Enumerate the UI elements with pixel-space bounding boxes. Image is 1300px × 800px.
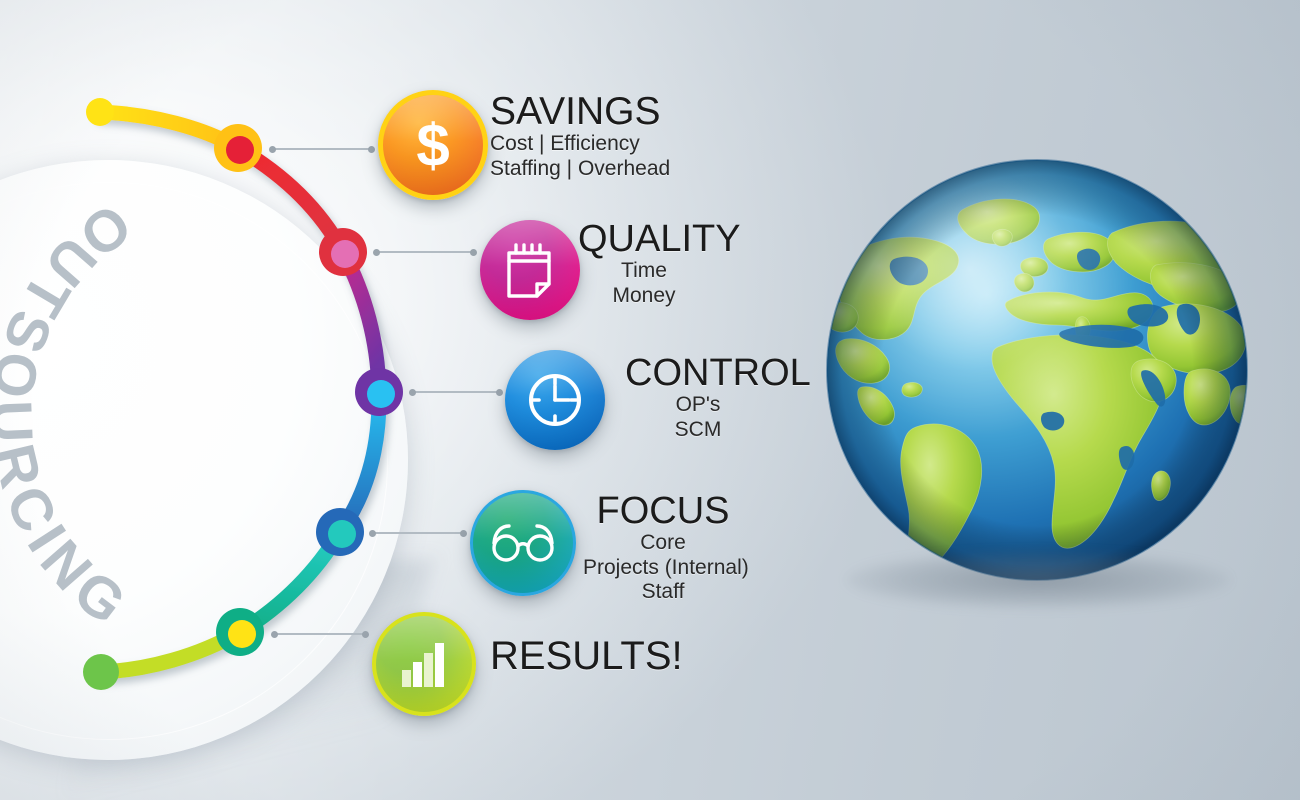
control-subtitle-1: OP's (625, 393, 771, 418)
focus-subtitle-1: Core (583, 531, 743, 556)
connector-quality (376, 251, 474, 253)
connector-control (412, 391, 500, 393)
control-subtitle-2: SCM (625, 418, 771, 443)
quality-badge[interactable] (480, 220, 580, 320)
arc-node-focus[interactable] (316, 508, 364, 556)
focus-title: FOCUS (583, 492, 743, 531)
arc-node-savings[interactable] (214, 124, 262, 172)
quality-subtitle-1: Time (578, 259, 710, 284)
arc-end-dot (83, 654, 119, 690)
connector-savings (272, 148, 372, 150)
infographic-canvas: OUTSOURCING (0, 0, 1300, 800)
focus-subtitle-3: Staff (583, 580, 743, 605)
results-badge[interactable] (372, 612, 476, 716)
control-badge[interactable] (505, 350, 605, 450)
notepad-icon (503, 240, 557, 300)
results-text-block: RESULTS! (490, 636, 683, 677)
globe-container (812, 155, 1262, 635)
arc-node-control[interactable] (355, 368, 403, 416)
savings-title: SAVINGS (490, 92, 670, 132)
savings-subtitle-2: Staffing | Overhead (490, 157, 670, 182)
savings-badge[interactable]: $ (378, 90, 488, 200)
focus-subtitle-2: Projects (Internal) (583, 556, 743, 581)
savings-subtitle-1: Cost | Efficiency (490, 132, 670, 157)
svg-text:$: $ (416, 114, 449, 176)
focus-badge[interactable] (470, 490, 576, 596)
savings-text-block: SAVINGS Cost | Efficiency Staffing | Ove… (490, 92, 670, 181)
arc-node-results[interactable] (216, 608, 264, 656)
bar-chart-icon (399, 639, 449, 689)
clock-icon (524, 369, 586, 431)
arc-start-dot (86, 98, 114, 126)
quality-text-block: QUALITY Time Money (578, 220, 710, 308)
quality-subtitle-2: Money (578, 284, 710, 309)
focus-text-block: FOCUS Core Projects (Internal) Staff (583, 492, 743, 605)
connector-results (274, 633, 366, 635)
globe-drop-shadow (846, 551, 1230, 609)
control-text-block: CONTROL OP's SCM (625, 354, 771, 442)
control-title: CONTROL (625, 354, 771, 393)
results-title: RESULTS! (490, 636, 683, 677)
glasses-icon (490, 521, 556, 565)
connector-focus (372, 532, 464, 534)
dollar-icon: $ (406, 114, 460, 176)
earth-globe (812, 155, 1262, 605)
arc-node-quality[interactable] (319, 228, 367, 276)
quality-title: QUALITY (578, 220, 710, 259)
